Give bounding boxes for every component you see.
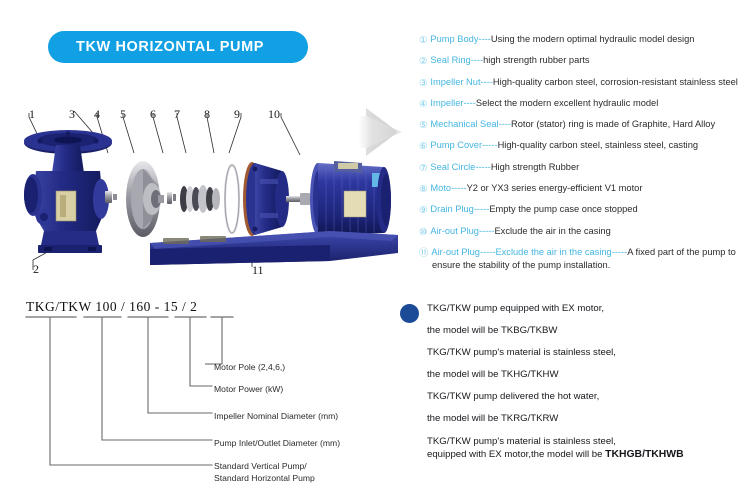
- callout-number-9: 9: [234, 107, 240, 122]
- legend-separator: -----: [480, 247, 495, 258]
- legend-separator: -----: [474, 204, 489, 215]
- page-title-pill: TKW HORIZONTAL PUMP: [48, 31, 308, 63]
- legend-item-1: ① Pump Body ---- Using the modern optima…: [419, 34, 756, 45]
- callout-number-5: 5: [120, 107, 126, 122]
- note-line-8: equipped with EX motor,the model will be…: [427, 449, 756, 461]
- legend-part-description: Rotor (stator) ring is made of Graphite,…: [511, 119, 715, 130]
- note-line-7: TKG/TKW pump's material is stainless ste…: [427, 436, 756, 448]
- note-line-6: the model will be TKRG/TKRW: [427, 413, 756, 425]
- circled-number-icon: ⑧: [419, 183, 427, 194]
- circled-number-icon: ⑥: [419, 140, 427, 151]
- callout-number-8: 8: [204, 107, 210, 122]
- legend-part-name: Seal Circle: [430, 162, 475, 173]
- legend-separator: ----: [471, 55, 483, 66]
- legend-item-6: ⑥ Pump Cover ----- High-quality carbon s…: [419, 140, 756, 151]
- callout-number-1: 1: [29, 107, 35, 122]
- callout-number-6: 6: [150, 107, 156, 122]
- model-leader-label-standard-horizontal: Standard Horizontal Pump: [214, 473, 315, 485]
- legend-separator: -----: [482, 140, 497, 151]
- legend-part-description: Empty the pump case once stopped: [489, 204, 637, 215]
- legend-part-description: High-quality carbon steel, stainless ste…: [498, 140, 699, 151]
- circled-number-icon: ②: [419, 55, 427, 66]
- legend-item-11-line1: ⑪ Air-out Plug ----- Exclude the air in …: [419, 247, 756, 258]
- callout-number-10: 10: [268, 107, 280, 122]
- legend-part-name: Air-out Plug: [431, 247, 480, 258]
- model-code-diagram: [0, 290, 400, 500]
- page-title: TKW HORIZONTAL PUMP: [76, 39, 264, 55]
- model-suffix-notes: TKG/TKW pump equipped with EX motor, the…: [427, 303, 756, 471]
- circled-number-icon: ③: [419, 77, 427, 88]
- callout-number-4: 4: [94, 107, 100, 122]
- note-line-4: the model will be TKHG/TKHW: [427, 369, 756, 381]
- circled-number-icon: ⑤: [419, 119, 427, 130]
- legend-part-description: High-quality carbon steel, corrosion-res…: [493, 77, 738, 88]
- legend-separator: -----: [451, 183, 466, 194]
- note-line-2: the model will be TKBG/TKBW: [427, 325, 756, 337]
- circled-number-icon: ⑨: [419, 204, 427, 215]
- legend-part-name: Impeller: [430, 98, 463, 109]
- legend-part-name: Moto: [430, 183, 451, 194]
- legend-part-name: Pump Body: [430, 34, 478, 45]
- legend-separator: -----: [475, 162, 490, 173]
- legend-part-description: Select the modern excellent hydraulic mo…: [476, 98, 658, 109]
- model-leader-label-motor-power: Motor Power (kW): [214, 384, 283, 396]
- legend-part-description: Exclude the air in the casing: [494, 226, 610, 237]
- callout-number-2: 2: [33, 262, 39, 277]
- legend-separator: -----: [479, 226, 494, 237]
- legend-part-name: Air-out Plug: [430, 226, 479, 237]
- circled-number-icon: ⑩: [419, 226, 427, 237]
- circled-number-icon: ①: [419, 34, 427, 45]
- circled-number-icon: ④: [419, 98, 427, 109]
- legend-separator-2: -----: [612, 247, 627, 258]
- model-leader-label-standard-vertical: Standard Vertical Pump/: [214, 461, 307, 473]
- note-line-8-model: TKHGB/TKHWB: [605, 449, 684, 460]
- parts-legend: ① Pump Body ---- Using the modern optima…: [419, 34, 756, 270]
- legend-part-name: Seal Ring: [430, 55, 470, 66]
- legend-part-description-cyan: Exclude the air in the casing: [495, 247, 611, 258]
- legend-part-name: Impeller Nut: [430, 77, 480, 88]
- note-line-3: TKG/TKW pump's material is stainless ste…: [427, 347, 756, 359]
- callout-number-11: 11: [252, 263, 264, 278]
- legend-item-7: ⑦ Seal Circle ----- High strength Rubber: [419, 162, 756, 173]
- callout-number-3: 3: [69, 107, 75, 122]
- exploded-pump-diagram: [0, 95, 400, 295]
- model-leader-label-motor-pole: Motor Pole (2,4,6,): [214, 362, 285, 374]
- legend-item-2: ② Seal Ring ---- high strength rubber pa…: [419, 55, 756, 66]
- legend-separator: ----: [481, 77, 493, 88]
- legend-item-9: ⑨ Drain Plug ----- Empty the pump case o…: [419, 204, 756, 215]
- legend-item-5: ⑤ Mechanical Seal ---- Rotor (stator) ri…: [419, 119, 756, 130]
- legend-item-11-line2: ensure the stability of the pump install…: [432, 260, 756, 270]
- circled-number-icon: ⑦: [419, 162, 427, 173]
- legend-part-description: High strength Rubber: [491, 162, 579, 173]
- legend-part-description: high strength rubber parts: [483, 55, 589, 66]
- bullet-dot-icon: [400, 304, 419, 323]
- legend-part-name: Pump Cover: [430, 140, 482, 151]
- note-line-1: TKG/TKW pump equipped with EX motor,: [427, 303, 756, 315]
- legend-part-tail: A fixed part of the pump to: [627, 247, 736, 258]
- legend-item-8: ⑧ Moto ----- Y2 or YX3 series energy-eff…: [419, 183, 756, 194]
- model-leader-label-impeller-diameter: Impeller Nominal Diameter (mm): [214, 411, 338, 423]
- legend-item-4: ④ Impeller ---- Select the modern excell…: [419, 98, 756, 109]
- model-leader-label-inlet-outlet-diameter: Pump Inlet/Outlet Diameter (mm): [214, 438, 340, 450]
- circled-number-icon: ⑪: [419, 247, 428, 258]
- note-line-5: TKG/TKW pump delivered the hot water,: [427, 391, 756, 403]
- legend-item-10: ⑩ Air-out Plug ----- Exclude the air in …: [419, 226, 756, 237]
- legend-part-description: Y2 or YX3 series energy-efficient V1 mot…: [467, 183, 643, 194]
- callout-number-7: 7: [174, 107, 180, 122]
- legend-part-name: Mechanical Seal: [430, 119, 498, 130]
- note-line-8-text: equipped with EX motor,the model will be: [427, 449, 605, 460]
- legend-part-description: Using the modern optimal hydraulic model…: [491, 34, 695, 45]
- poster-canvas: TKW HORIZONTAL PUMP: [0, 0, 756, 500]
- legend-separator: ----: [463, 98, 475, 109]
- legend-separator: ----: [478, 34, 490, 45]
- legend-separator: ----: [499, 119, 511, 130]
- legend-item-11: ⑪ Air-out Plug ----- Exclude the air in …: [419, 247, 756, 270]
- legend-part-name: Drain Plug: [430, 204, 473, 215]
- legend-item-3: ③ Impeller Nut ---- High-quality carbon …: [419, 77, 756, 88]
